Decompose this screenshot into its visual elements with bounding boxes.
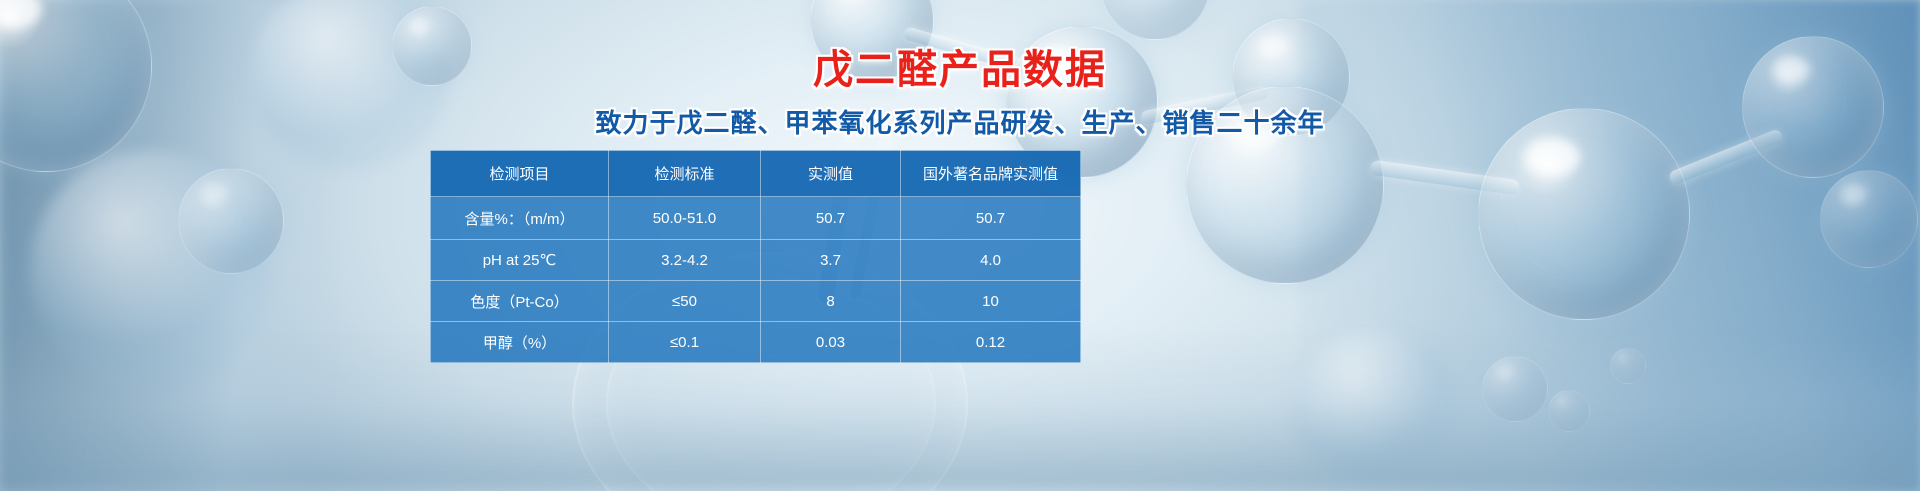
- cell-foreign-measured-value: 10: [901, 281, 1081, 322]
- product-data-banner: 戊二醛产品数据 致力于戊二醛、甲苯氧化系列产品研发、生产、销售二十余年 检测项目…: [0, 0, 1920, 491]
- column-header-foreign-brand-measured-value: 国外著名品牌实测值: [901, 151, 1081, 197]
- page-subtitle: 致力于戊二醛、甲苯氧化系列产品研发、生产、销售二十余年: [0, 94, 1920, 140]
- cell-measured-value: 8: [761, 281, 901, 322]
- cell-test-standard: 50.0-51.0: [609, 197, 761, 240]
- cell-foreign-measured-value: 50.7: [901, 197, 1081, 240]
- table-header-row: 检测项目 检测标准 实测值 国外著名品牌实测值: [431, 151, 1081, 197]
- cell-measured-value: 0.03: [761, 322, 901, 363]
- cell-foreign-measured-value: 4.0: [901, 240, 1081, 281]
- table-row: 色度（Pt-Co） ≤50 8 10: [431, 281, 1081, 322]
- column-header-test-standard: 检测标准: [609, 151, 761, 197]
- cell-foreign-measured-value: 0.12: [901, 322, 1081, 363]
- headline-block: 戊二醛产品数据 致力于戊二醛、甲苯氧化系列产品研发、生产、销售二十余年: [0, 0, 1920, 140]
- cell-test-item: pH at 25℃: [431, 240, 609, 281]
- table-row: 甲醇（%） ≤0.1 0.03 0.12: [431, 322, 1081, 363]
- column-header-test-item: 检测项目: [431, 151, 609, 197]
- cell-test-standard: ≤0.1: [609, 322, 761, 363]
- glass-sphere-decoration: [1820, 170, 1918, 268]
- cell-test-item: 甲醇（%）: [431, 322, 609, 363]
- spec-table-wrapper: 检测项目 检测标准 实测值 国外著名品牌实测值 含量%：（m/m） 50.0-5…: [430, 150, 1080, 363]
- page-title: 戊二醛产品数据: [0, 0, 1920, 94]
- table-row: 含量%：（m/m） 50.0-51.0 50.7 50.7: [431, 197, 1081, 240]
- cell-test-item: 色度（Pt-Co）: [431, 281, 609, 322]
- column-header-measured-value: 实测值: [761, 151, 901, 197]
- cell-measured-value: 3.7: [761, 240, 901, 281]
- cell-measured-value: 50.7: [761, 197, 901, 240]
- cell-test-standard: ≤50: [609, 281, 761, 322]
- product-spec-table: 检测项目 检测标准 实测值 国外著名品牌实测值 含量%：（m/m） 50.0-5…: [430, 150, 1081, 363]
- cell-test-item: 含量%：（m/m）: [431, 197, 609, 240]
- table-header: 检测项目 检测标准 实测值 国外著名品牌实测值: [431, 151, 1081, 197]
- table-row: pH at 25℃ 3.2-4.2 3.7 4.0: [431, 240, 1081, 281]
- cell-test-standard: 3.2-4.2: [609, 240, 761, 281]
- table-body: 含量%：（m/m） 50.0-51.0 50.7 50.7 pH at 25℃ …: [431, 197, 1081, 363]
